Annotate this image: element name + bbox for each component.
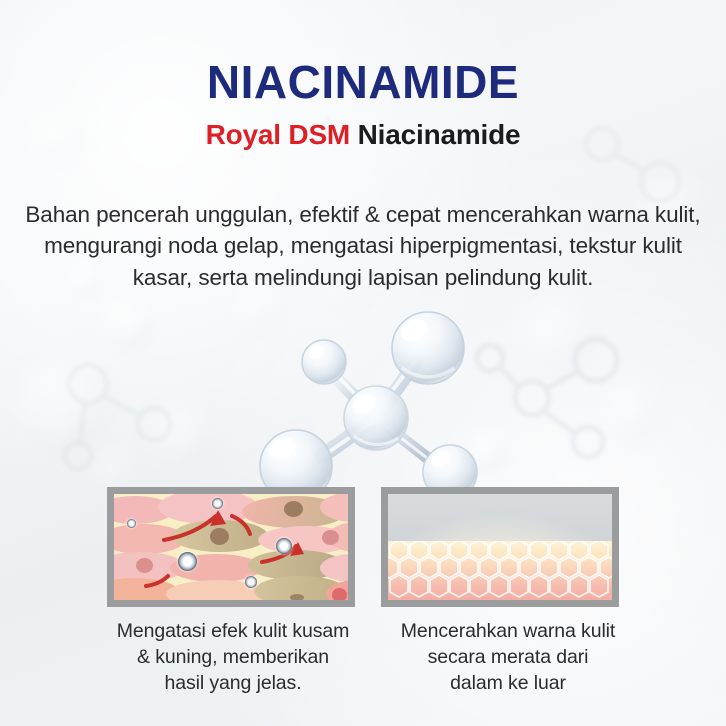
caption-skin-layers: Mencerahkan warna kulit secara merata da… [372,618,644,696]
panel-skin-cells [107,487,355,607]
ingredient-name: Niacinamide [358,119,521,150]
benefit-panels [0,487,726,609]
caption-line: secara merata dari [372,644,644,670]
caption-line: Mengatasi efek kulit kusam [88,618,378,644]
page-title: NIACINAMIDE [0,58,726,106]
background-molecule-icon [470,300,660,480]
absorption-arrows-icon [114,494,348,600]
subtitle: Royal DSM Niacinamide [0,120,726,151]
honeycomb-cells-icon [388,541,612,603]
caption-line: & kuning, memberikan [88,644,378,670]
panel-captions: Mengatasi efek kulit kusam & kuning, mem… [0,618,726,718]
niacinamide-product-infographic: NIACINAMIDE Royal DSM Niacinamide Bahan … [0,0,726,726]
background-molecule-icon [34,330,204,490]
molecule-hero-illustration [248,300,498,495]
caption-line: dalam ke luar [372,670,644,696]
skin-cell-layer [388,541,612,600]
panel-skin-layers [381,487,619,607]
glass-molecule-icon [248,300,498,495]
header: NIACINAMIDE Royal DSM Niacinamide [0,58,726,151]
caption-line: Mencerahkan warna kulit [372,618,644,644]
description-text: Bahan pencerah unggulan, efektif & cepat… [22,199,704,295]
caption-line: hasil yang jelas. [88,670,378,696]
caption-skin-cells: Mengatasi efek kulit kusam & kuning, mem… [88,618,378,696]
brand-name: Royal DSM [206,119,350,150]
